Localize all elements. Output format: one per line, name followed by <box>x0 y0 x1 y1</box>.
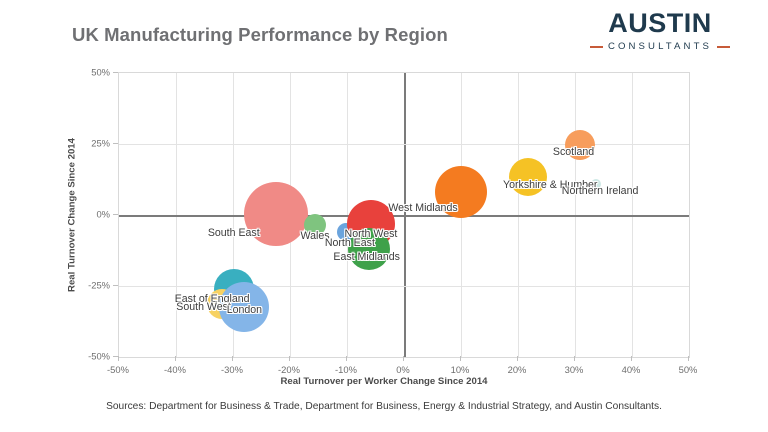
x-tick-mark <box>574 356 575 361</box>
x-tick-mark <box>517 356 518 361</box>
bubble-label-west-midlands: West Midlands <box>388 202 457 214</box>
bubble-label-northern-ireland: Northern Ireland <box>562 185 639 197</box>
x-tick-mark <box>118 356 119 361</box>
x-tick-mark <box>175 356 176 361</box>
page-title: UK Manufacturing Performance by Region <box>72 24 448 46</box>
x-tick-mark <box>289 356 290 361</box>
y-tick-mark <box>113 356 118 357</box>
logo-wordmark: AUSTIN <box>576 10 744 37</box>
logo-rule-left-icon <box>590 46 603 48</box>
y-tick-mark <box>113 214 118 215</box>
x-tick-label: -20% <box>259 364 319 375</box>
bubble-label-north-west: North West <box>345 228 398 240</box>
gridline-horizontal <box>119 144 689 145</box>
x-tick-label: -50% <box>88 364 148 375</box>
x-tick-label: 20% <box>487 364 547 375</box>
x-tick-label: 40% <box>601 364 661 375</box>
x-tick-mark <box>232 356 233 361</box>
logo-rule-right-icon <box>717 46 730 48</box>
x-tick-label: 0% <box>373 364 433 375</box>
x-tick-mark <box>346 356 347 361</box>
austin-consultants-logo: AUSTIN CONSULTANTS <box>576 10 744 52</box>
bubble-label-east-midlands: East Midlands <box>333 251 400 263</box>
y-tick-mark <box>113 72 118 73</box>
y-tick-label: -50% <box>50 351 110 362</box>
x-tick-label: 10% <box>430 364 490 375</box>
bubble-label-scotland: Scotland <box>553 146 594 158</box>
x-axis-title: Real Turnover per Worker Change Since 20… <box>0 376 768 387</box>
y-tick-label: 0% <box>50 209 110 220</box>
x-tick-label: 50% <box>658 364 718 375</box>
y-tick-label: 25% <box>50 138 110 149</box>
x-tick-mark <box>403 356 404 361</box>
chart-page: UK Manufacturing Performance by Region A… <box>0 0 768 432</box>
x-tick-label: -10% <box>316 364 376 375</box>
gridline-horizontal <box>119 286 689 287</box>
x-tick-mark <box>688 356 689 361</box>
bubble-label-south-east: South East <box>208 227 260 239</box>
logo-subtitle-row: CONSULTANTS <box>576 41 744 52</box>
y-tick-mark <box>113 285 118 286</box>
bubble-label-south-west: South West <box>176 301 231 313</box>
logo-subtitle: CONSULTANTS <box>608 41 712 52</box>
bubble-label-london: London <box>227 304 262 316</box>
x-tick-mark <box>460 356 461 361</box>
bubble-chart-plot-area: South EastWalesNorth EastNorth WestEast … <box>118 72 690 358</box>
x-tick-label: -40% <box>145 364 205 375</box>
y-tick-label: 50% <box>50 67 110 78</box>
source-note: Sources: Department for Business & Trade… <box>0 401 768 412</box>
y-tick-mark <box>113 143 118 144</box>
y-tick-label: -25% <box>50 280 110 291</box>
x-tick-label: -30% <box>202 364 262 375</box>
x-tick-label: 30% <box>544 364 604 375</box>
y-axis-zero-line <box>119 215 689 217</box>
x-tick-mark <box>631 356 632 361</box>
